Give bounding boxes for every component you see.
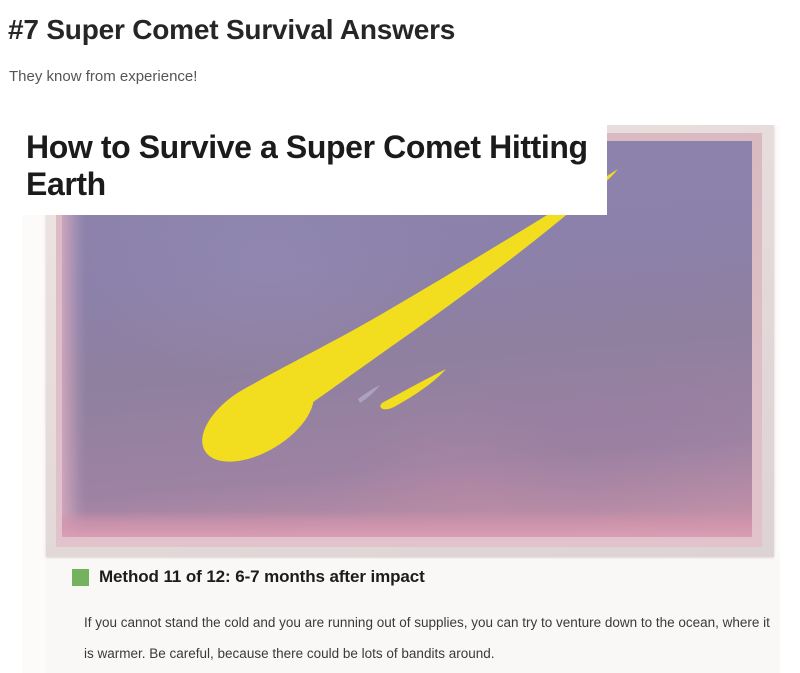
caption-heading-row: Method 11 of 12: 6-7 months after impact bbox=[72, 567, 425, 587]
page-title: #7 Super Comet Survival Answers bbox=[8, 14, 455, 46]
caption-heading: Method 11 of 12: 6-7 months after impact bbox=[99, 567, 425, 587]
caption-panel: Method 11 of 12: 6-7 months after impact… bbox=[46, 559, 780, 673]
article-title-overlay: How to Survive a Super Comet Hitting Ear… bbox=[22, 125, 607, 215]
magazine-page-photo: How to Survive a Super Comet Hitting Ear… bbox=[22, 125, 780, 673]
comet-tail-flake-lower bbox=[380, 369, 446, 409]
comet-brush-gap bbox=[358, 385, 380, 403]
article-title: How to Survive a Super Comet Hitting Ear… bbox=[26, 129, 596, 203]
caption-body-text: If you cannot stand the cold and you are… bbox=[84, 607, 774, 669]
page-subtitle: They know from experience! bbox=[9, 68, 197, 85]
green-square-icon bbox=[72, 569, 89, 586]
canvas-bottom-edge-wash bbox=[62, 511, 752, 537]
